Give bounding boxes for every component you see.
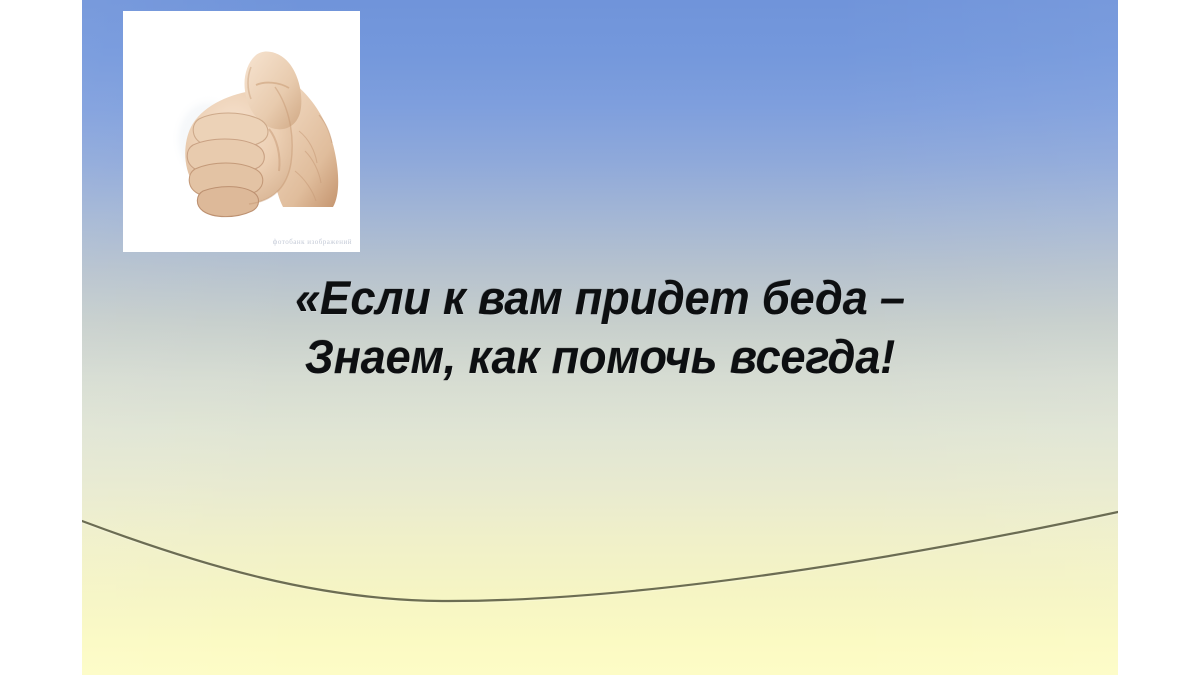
thumbs-up-picture-frame[interactable]: фотобанк изображений <box>123 11 360 252</box>
thumbs-up-hand-photo <box>123 11 360 252</box>
quote-text-block: «Если к вам придет беда – Знаем, как пом… <box>103 268 1098 386</box>
quote-line-1: «Если к вам придет беда – <box>103 268 1098 327</box>
photo-watermark: фотобанк изображений <box>273 238 352 246</box>
slide-canvas: фотобанк изображений «Если к вам придет … <box>0 0 1200 675</box>
quote-line-2: Знаем, как помочь всегда! <box>103 327 1098 386</box>
presentation-slide: фотобанк изображений «Если к вам придет … <box>82 0 1118 675</box>
